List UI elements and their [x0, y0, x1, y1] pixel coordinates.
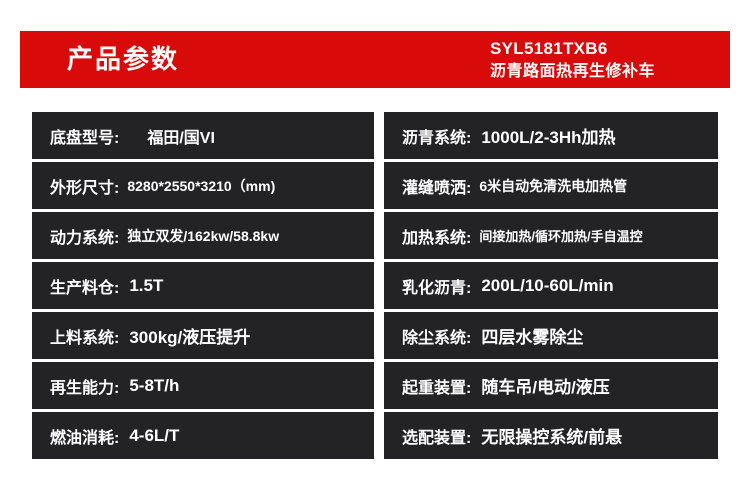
table-row: 燃油消耗: 4-6L/T	[32, 412, 374, 459]
header-model-block: SYL5181TXB6 沥青路面热再生修补车	[490, 33, 700, 87]
table-row: 再生能力: 5-8T/h	[32, 362, 374, 409]
spec-label: 乳化沥青:	[402, 274, 471, 298]
spec-label: 除尘系统:	[402, 324, 471, 348]
spec-value: 随车吊/电动/液压	[481, 373, 609, 398]
spec-column-right: 沥青系统: 1000L/2-3Hh加热 灌缝喷洒: 6米自动免清洗电加热管 加热…	[384, 112, 718, 462]
spec-label: 沥青系统:	[402, 124, 471, 148]
spec-label: 燃油消耗:	[50, 424, 119, 448]
spec-label: 灌缝喷洒:	[402, 174, 471, 198]
table-row: 除尘系统: 四层水雾除尘	[384, 312, 718, 359]
spec-label: 底盘型号:	[50, 124, 119, 148]
spec-label: 动力系统:	[50, 224, 119, 248]
spec-label: 上料系统:	[50, 324, 119, 348]
spec-value: 5-8T/h	[129, 376, 179, 396]
spec-value: 6米自动免清洗电加热管	[479, 176, 627, 196]
table-row: 外形尺寸: 8280*2550*3210（mm)	[32, 162, 374, 209]
model-code: SYL5181TXB6	[490, 37, 608, 60]
table-row: 底盘型号: 福田/国VI	[32, 112, 374, 159]
spec-label: 生产料仓:	[50, 274, 119, 298]
spec-label: 选配装置:	[402, 424, 471, 448]
table-row: 动力系统: 独立双发/162kw/58.8kw	[32, 212, 374, 259]
table-row: 灌缝喷洒: 6米自动免清洗电加热管	[384, 162, 718, 209]
spec-value: 200L/10-60L/min	[481, 276, 613, 296]
spec-value: 8280*2550*3210（mm)	[127, 176, 275, 196]
table-row: 乳化沥青: 200L/10-60L/min	[384, 262, 718, 309]
table-row: 上料系统: 300kg/液压提升	[32, 312, 374, 359]
spec-value: 1.5T	[129, 276, 163, 296]
spec-label: 加热系统:	[402, 224, 471, 248]
product-spec-sheet: 产品参数 SYL5181TXB6 沥青路面热再生修补车 底盘型号: 福田/国VI…	[0, 0, 750, 482]
table-row: 沥青系统: 1000L/2-3Hh加热	[384, 112, 718, 159]
table-row: 选配装置: 无限操控系统/前悬	[384, 412, 718, 459]
table-row: 生产料仓: 1.5T	[32, 262, 374, 309]
spec-label: 外形尺寸:	[50, 174, 119, 198]
spec-value: 1000L/2-3Hh加热	[481, 123, 615, 148]
spec-value: 300kg/液压提升	[129, 323, 250, 348]
page-title: 产品参数	[67, 31, 179, 88]
spec-label: 起重装置:	[402, 374, 471, 398]
spec-value: 四层水雾除尘	[481, 323, 583, 348]
spec-value: 间接加热/循环加热/手自温控	[479, 226, 642, 245]
spec-value: 4-6L/T	[129, 426, 179, 446]
table-row: 起重装置: 随车吊/电动/液压	[384, 362, 718, 409]
spec-column-left: 底盘型号: 福田/国VI 外形尺寸: 8280*2550*3210（mm) 动力…	[32, 112, 374, 462]
spec-value: 无限操控系统/前悬	[481, 423, 622, 448]
spec-value: 独立双发/162kw/58.8kw	[127, 226, 279, 246]
spec-table: 底盘型号: 福田/国VI 外形尺寸: 8280*2550*3210（mm) 动力…	[0, 112, 750, 462]
spec-value: 福田/国VI	[147, 124, 215, 148]
spec-label: 再生能力:	[50, 374, 119, 398]
table-row: 加热系统: 间接加热/循环加热/手自温控	[384, 212, 718, 259]
model-name: 沥青路面热再生修补车	[490, 60, 655, 83]
